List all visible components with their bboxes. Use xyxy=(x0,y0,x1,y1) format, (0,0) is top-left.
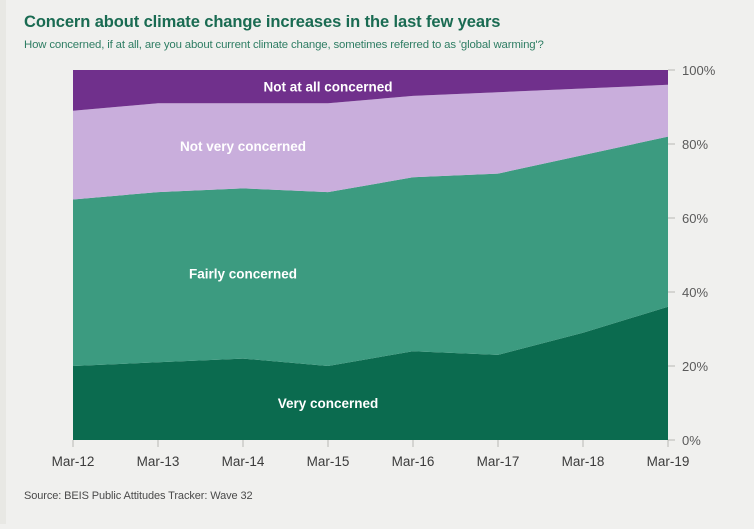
y-tick-label: 100% xyxy=(682,63,716,78)
y-tick-label: 60% xyxy=(682,211,708,226)
x-tick-label: Mar-16 xyxy=(392,454,435,469)
stacked-area-chart: 0%20%40%60%80%100%Mar-12Mar-13Mar-14Mar-… xyxy=(0,0,754,524)
x-tick-label: Mar-17 xyxy=(477,454,520,469)
y-tick-label: 40% xyxy=(682,285,708,300)
x-tick-label: Mar-18 xyxy=(562,454,605,469)
y-axis: 0%20%40%60%80%100% xyxy=(668,63,716,448)
x-tick-label: Mar-12 xyxy=(52,454,95,469)
y-tick-label: 80% xyxy=(682,137,708,152)
x-axis: Mar-12Mar-13Mar-14Mar-15Mar-16Mar-17Mar-… xyxy=(52,440,690,469)
series-label-not-at-all-concerned: Not at all concerned xyxy=(263,80,392,95)
x-tick-label: Mar-15 xyxy=(307,454,350,469)
x-tick-label: Mar-14 xyxy=(222,454,265,469)
y-tick-label: 0% xyxy=(682,433,701,448)
series-label-fairly-concerned: Fairly concerned xyxy=(189,267,297,282)
series-label-not-very-concerned: Not very concerned xyxy=(180,139,306,154)
x-tick-label: Mar-13 xyxy=(137,454,180,469)
source-note: Source: BEIS Public Attitudes Tracker: W… xyxy=(24,490,253,502)
chart-figure: Concern about climate change increases i… xyxy=(0,0,754,524)
series-label-very-concerned: Very concerned xyxy=(278,396,379,411)
x-tick-label: Mar-19 xyxy=(647,454,690,469)
plot-area: 0%20%40%60%80%100%Mar-12Mar-13Mar-14Mar-… xyxy=(0,0,754,524)
y-tick-label: 20% xyxy=(682,359,708,374)
chart-areas xyxy=(73,70,668,440)
